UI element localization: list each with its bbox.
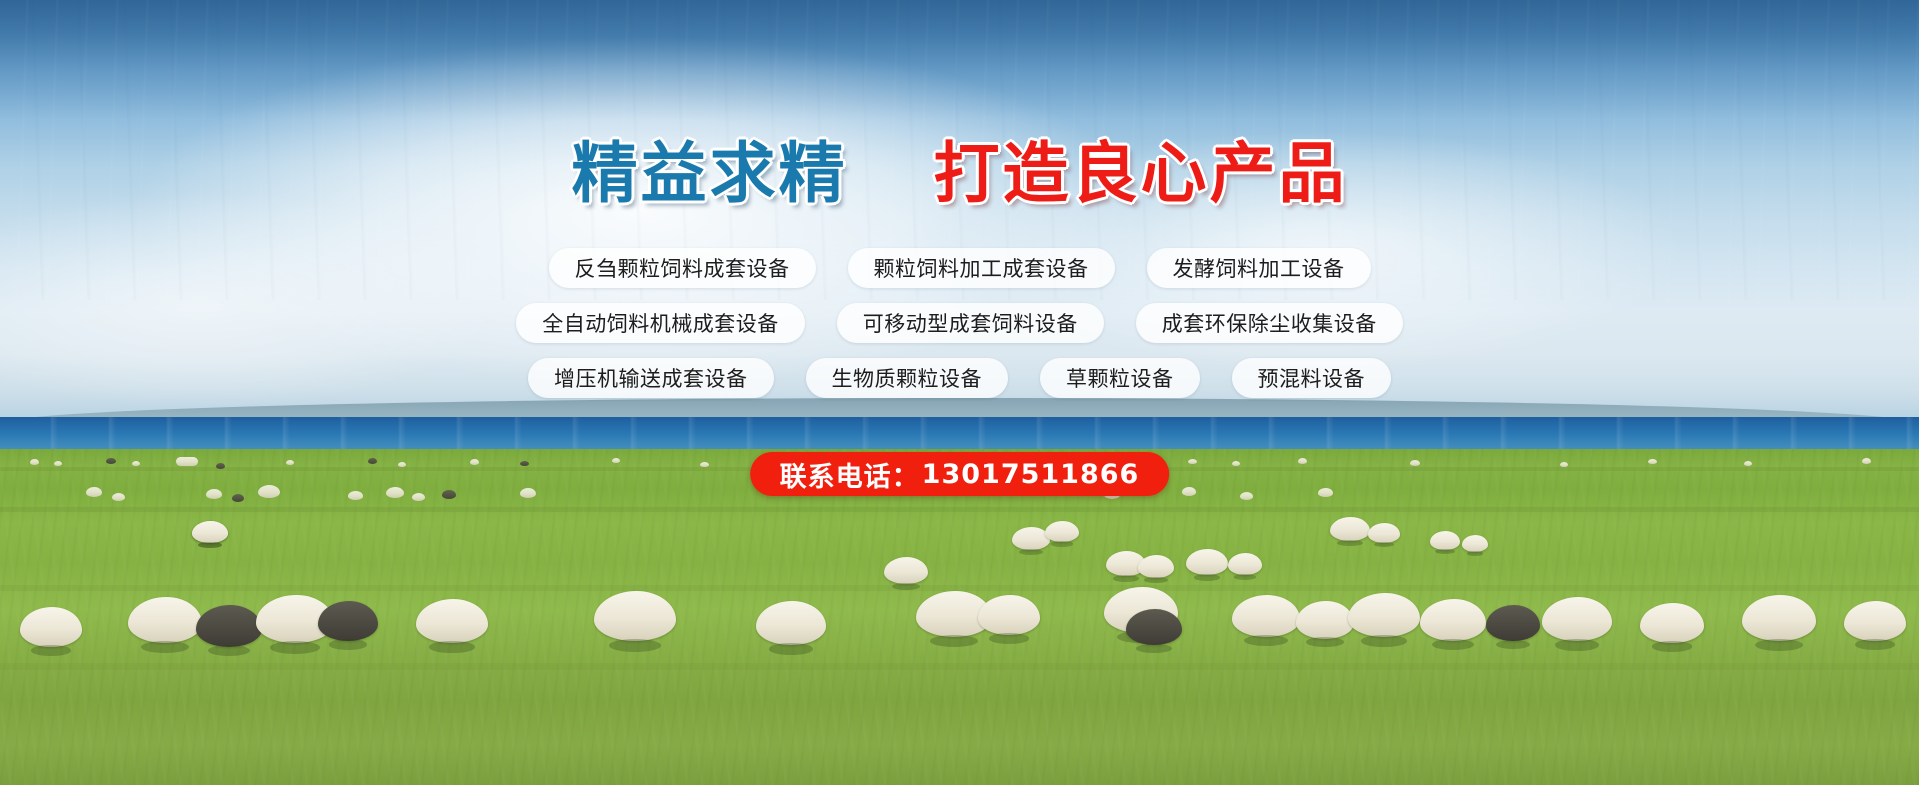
headline-red-text: 打造良心产品 bbox=[933, 135, 1347, 212]
sheep bbox=[1240, 492, 1253, 500]
sheep bbox=[20, 607, 82, 647]
contact-label: 联系电话： bbox=[780, 455, 920, 494]
sheep bbox=[1742, 595, 1816, 641]
sheep bbox=[884, 557, 928, 584]
sheep bbox=[318, 601, 378, 641]
grass-band bbox=[0, 507, 1919, 512]
product-row-3: 增压机输送成套设备 生物质颗粒设备 草颗粒设备 预混料设备 bbox=[0, 358, 1919, 398]
sheep bbox=[1368, 523, 1400, 543]
sheep bbox=[1744, 461, 1752, 466]
product-pill-cao-keli[interactable]: 草颗粒设备 bbox=[1040, 358, 1200, 398]
sheep bbox=[1486, 605, 1540, 641]
lake-water bbox=[0, 417, 1919, 453]
sheep bbox=[412, 493, 425, 501]
sheep bbox=[1648, 459, 1657, 464]
product-pill-shengwuzhi-keli[interactable]: 生物质颗粒设备 bbox=[806, 358, 1009, 398]
sheep bbox=[1348, 593, 1420, 637]
sheep bbox=[192, 521, 228, 543]
sheep bbox=[286, 460, 294, 465]
grassland bbox=[0, 449, 1919, 785]
headline-blue-text: 精益求精 bbox=[572, 135, 848, 212]
sheep bbox=[176, 457, 198, 466]
sheep bbox=[1188, 459, 1197, 464]
sheep bbox=[1862, 458, 1871, 464]
sheep bbox=[54, 461, 62, 466]
product-pill-fajiao-siliao-jiagong[interactable]: 发酵饲料加工设备 bbox=[1147, 248, 1371, 288]
sheep bbox=[520, 461, 529, 466]
grass-band bbox=[0, 585, 1919, 591]
sheep bbox=[612, 458, 620, 463]
product-row-1: 反刍颗粒饲料成套设备 颗粒饲料加工成套设备 发酵饲料加工设备 bbox=[0, 248, 1919, 288]
sheep bbox=[368, 458, 377, 464]
sheep bbox=[206, 489, 222, 499]
product-pill-fanchu-keli-siliao[interactable]: 反刍颗粒饲料成套设备 bbox=[549, 248, 816, 288]
sheep bbox=[1186, 549, 1228, 575]
lake-shimmer bbox=[0, 417, 1919, 453]
sheep bbox=[398, 462, 406, 467]
sheep bbox=[1182, 487, 1196, 496]
sheep bbox=[232, 494, 244, 502]
sheep bbox=[1228, 553, 1262, 575]
sheep bbox=[1138, 555, 1174, 578]
product-pill-zengyaji-shusong[interactable]: 增压机输送成套设备 bbox=[528, 358, 774, 398]
sheep bbox=[700, 462, 709, 467]
product-pill-chengtao-huanbao-chuchen[interactable]: 成套环保除尘收集设备 bbox=[1136, 303, 1403, 343]
product-row-2: 全自动饲料机械成套设备 可移动型成套饲料设备 成套环保除尘收集设备 bbox=[0, 303, 1919, 343]
sheep bbox=[86, 487, 102, 497]
product-category-list: 反刍颗粒饲料成套设备 颗粒饲料加工成套设备 发酵饲料加工设备 全自动饲料机械成套… bbox=[0, 248, 1919, 413]
sheep bbox=[520, 488, 536, 498]
sheep bbox=[348, 491, 363, 500]
sheep bbox=[1298, 458, 1307, 464]
grass-band bbox=[0, 663, 1919, 670]
sheep bbox=[470, 459, 479, 465]
sheep bbox=[1045, 521, 1079, 542]
sheep bbox=[30, 459, 39, 465]
sheep bbox=[978, 595, 1040, 635]
sheep bbox=[594, 591, 676, 641]
sheep bbox=[1410, 460, 1420, 466]
sheep bbox=[196, 605, 262, 647]
sheep bbox=[1560, 462, 1568, 467]
sheep bbox=[416, 599, 488, 643]
sheep bbox=[1232, 461, 1240, 466]
sheep bbox=[1542, 597, 1612, 641]
sheep bbox=[1318, 488, 1333, 497]
sheep bbox=[106, 458, 116, 464]
product-pill-keyidongxing-chengtao[interactable]: 可移动型成套饲料设备 bbox=[837, 303, 1104, 343]
sheep bbox=[132, 461, 140, 466]
sheep bbox=[216, 463, 225, 469]
sheep bbox=[1232, 595, 1300, 637]
sheep bbox=[1844, 601, 1906, 641]
sheep bbox=[386, 487, 404, 498]
headline-slogan: 精益求精 打造良心产品 bbox=[0, 141, 1919, 207]
product-pill-keli-siliao-jiagong[interactable]: 颗粒饲料加工成套设备 bbox=[848, 248, 1115, 288]
contact-phone-button[interactable]: 联系电话： 13017511866 bbox=[750, 452, 1170, 496]
sheep bbox=[1330, 517, 1370, 541]
product-pill-yuhunliao[interactable]: 预混料设备 bbox=[1232, 358, 1392, 398]
sheep bbox=[1640, 603, 1704, 643]
product-pill-quanzidong-siliao-jixie[interactable]: 全自动饲料机械成套设备 bbox=[516, 303, 805, 343]
sheep bbox=[1296, 601, 1354, 639]
contact-phone-number: 13017511866 bbox=[922, 459, 1140, 490]
sheep bbox=[1126, 609, 1182, 645]
sheep bbox=[1462, 535, 1488, 552]
sheep bbox=[112, 493, 125, 501]
sheep bbox=[442, 490, 456, 499]
sheep bbox=[1430, 531, 1460, 550]
sheep bbox=[756, 601, 826, 645]
hero-banner: 精益求精 打造良心产品 反刍颗粒饲料成套设备 颗粒饲料加工成套设备 发酵饲料加工… bbox=[0, 0, 1919, 785]
sheep bbox=[128, 597, 202, 643]
sheep bbox=[258, 485, 280, 498]
sheep bbox=[1420, 599, 1486, 641]
